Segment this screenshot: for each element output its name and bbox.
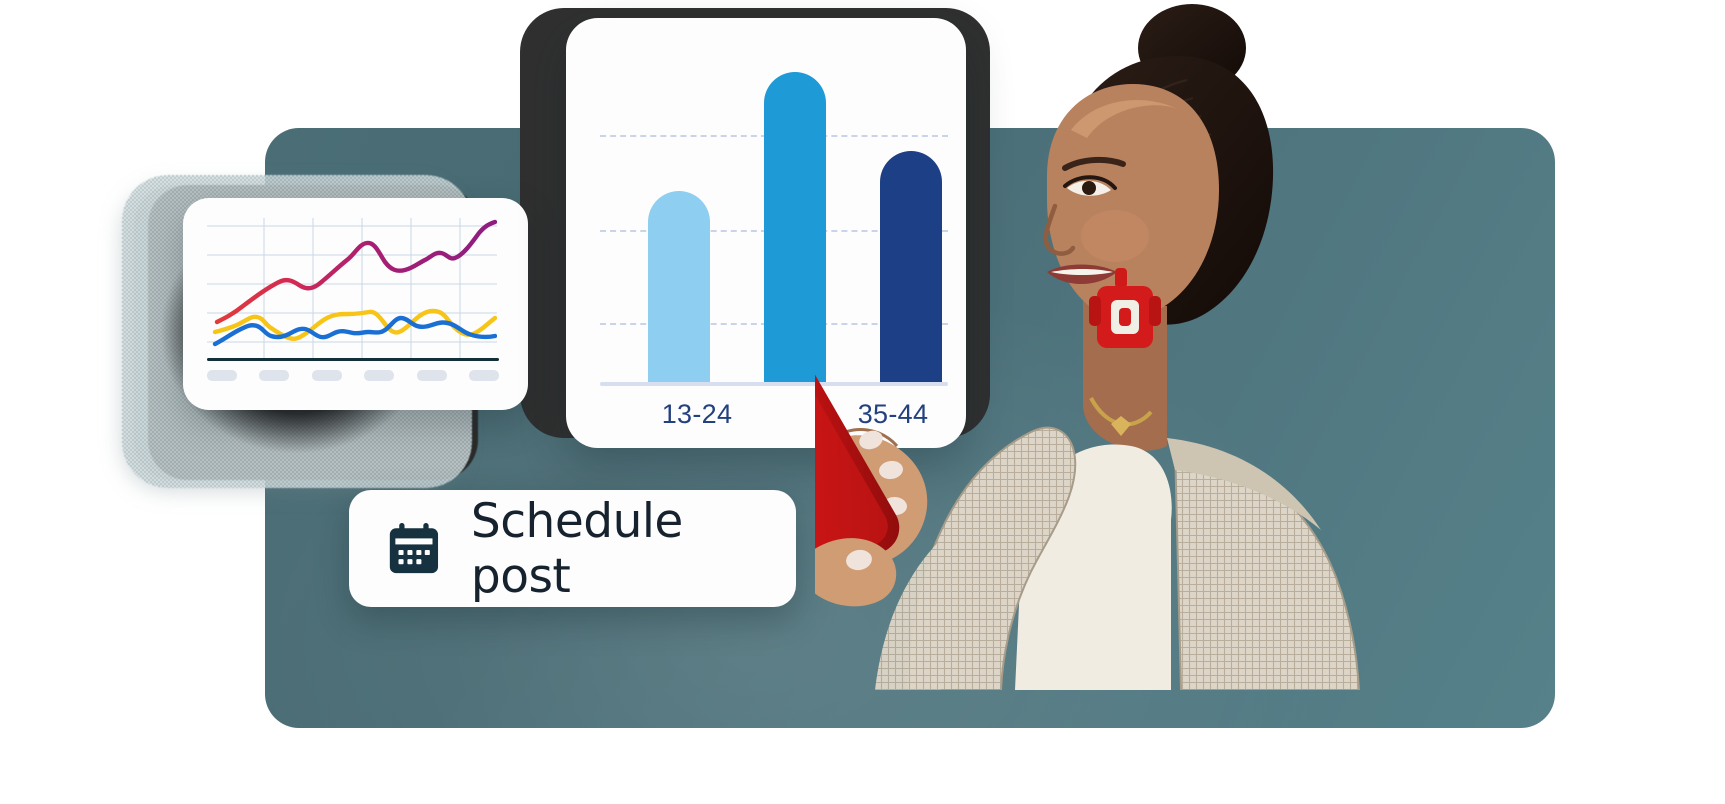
bar-13-24[interactable] <box>648 191 710 382</box>
bar-tick-label-13-24: 13-24 <box>648 399 746 430</box>
legend-pill[interactable] <box>312 370 342 381</box>
cheek <box>1081 210 1149 262</box>
legend-pill[interactable] <box>207 370 237 381</box>
legend-pill[interactable] <box>259 370 289 381</box>
scene-root: 13-24 25-34 35-44 Schedule post <box>0 0 1725 804</box>
line-chart-card[interactable] <box>183 198 528 410</box>
schedule-post-label: Schedule post <box>471 494 796 604</box>
calendar-icon <box>385 520 443 578</box>
line-chart-baseline <box>207 358 499 361</box>
legend-pill[interactable] <box>469 370 499 381</box>
line-series-magenta <box>217 222 495 322</box>
legend-pill[interactable] <box>364 370 394 381</box>
portrait-woman-with-phone <box>815 0 1435 690</box>
line-chart-gridlines <box>207 218 497 358</box>
line-chart-svg <box>207 218 497 358</box>
legend-pill[interactable] <box>417 370 447 381</box>
line-series-blue <box>215 318 495 344</box>
eye-iris <box>1082 181 1096 195</box>
schedule-post-button[interactable]: Schedule post <box>349 490 796 607</box>
line-chart-legend <box>207 370 499 381</box>
